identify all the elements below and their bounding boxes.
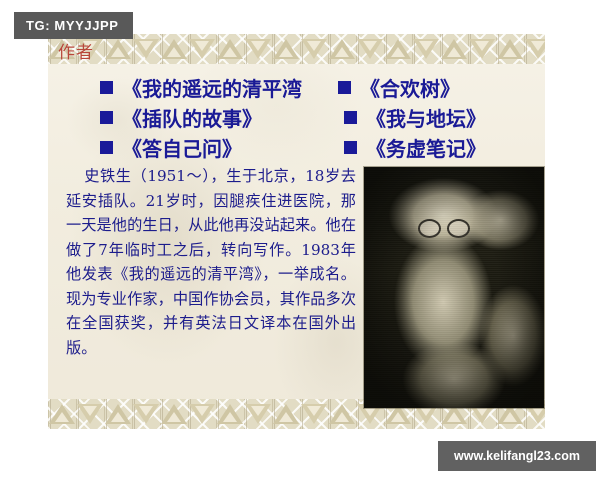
triangle-motif (132, 399, 160, 429)
works-row: 《答自己问》 《务虚笔记》 (48, 132, 545, 162)
work-item: 《我与地坛》 (344, 103, 486, 132)
work-item: 《我的遥远的清平湾 (100, 73, 338, 102)
work-item: 《合欢树》 (338, 73, 460, 102)
site-watermark: www.kelifangl23.com (438, 441, 596, 471)
triangle-motif (412, 34, 440, 64)
bullet-square-icon (100, 141, 113, 154)
bullet-square-icon (100, 81, 113, 94)
triangle-motif (272, 34, 300, 64)
triangle-motif (440, 34, 468, 64)
bullet-square-icon (100, 111, 113, 124)
biography-text: 史铁生（1951～），生于北京，18岁去延安插队。21岁时，因腿疾住进医院，那一… (66, 164, 356, 360)
triangle-motif (384, 34, 412, 64)
slide-viewer: TG: MYYJJPP (0, 0, 600, 480)
author-portrait-photo (364, 167, 544, 408)
eyeglasses-detail (418, 219, 470, 235)
telegram-tag: TG: MYYJJPP (14, 12, 133, 39)
triangle-motif (328, 34, 356, 64)
lens-left (418, 219, 441, 238)
biography-paragraph: 史铁生（1951～），生于北京，18岁去延安插队。21岁时，因腿疾住进医院，那一… (66, 164, 356, 360)
works-list: 《我的遥远的清平湾 《合欢树》 《插队的故事》 《我与地坛》 (48, 68, 545, 162)
works-row: 《我的遥远的清平湾 《合欢树》 (48, 72, 545, 102)
work-title: 《我与地坛》 (366, 103, 486, 132)
work-title: 《务虚笔记》 (366, 133, 486, 162)
triangle-motif (300, 34, 328, 64)
triangle-motif (328, 399, 356, 429)
triangle-motif (524, 34, 545, 64)
triangle-motif (468, 34, 496, 64)
triangle-motif (300, 399, 328, 429)
work-title: 《合欢树》 (360, 73, 460, 102)
triangle-motif (356, 34, 384, 64)
triangle-motif (104, 399, 132, 429)
triangle-motif (76, 399, 104, 429)
work-item: 《插队的故事》 (100, 103, 344, 132)
work-title: 《插队的故事》 (122, 103, 262, 132)
triangle-motif (216, 34, 244, 64)
triangle-motif (188, 34, 216, 64)
triangle-motif (244, 34, 272, 64)
bullet-square-icon (344, 111, 357, 124)
work-item: 《务虚笔记》 (344, 133, 486, 162)
triangle-motif (160, 399, 188, 429)
triangle-motif (160, 34, 188, 64)
triangle-motif (244, 399, 272, 429)
work-title: 《答自己问》 (122, 133, 242, 162)
triangle-motif (496, 34, 524, 64)
works-row: 《插队的故事》 《我与地坛》 (48, 102, 545, 132)
presentation-slide: 作者 《我的遥远的清平湾 《合欢树》 《插队的故事》 (48, 34, 545, 429)
triangle-motif (48, 399, 76, 429)
work-title: 《我的遥远的清平湾 (122, 73, 302, 102)
triangle-motif (272, 399, 300, 429)
bullet-square-icon (344, 141, 357, 154)
triangle-motif (188, 399, 216, 429)
lens-right (447, 219, 470, 238)
triangle-motif (216, 399, 244, 429)
work-item: 《答自己问》 (100, 133, 344, 162)
triangle-motif (132, 34, 160, 64)
section-label-author: 作者 (58, 38, 94, 63)
bullet-square-icon (338, 81, 351, 94)
portrait-image (364, 167, 544, 408)
